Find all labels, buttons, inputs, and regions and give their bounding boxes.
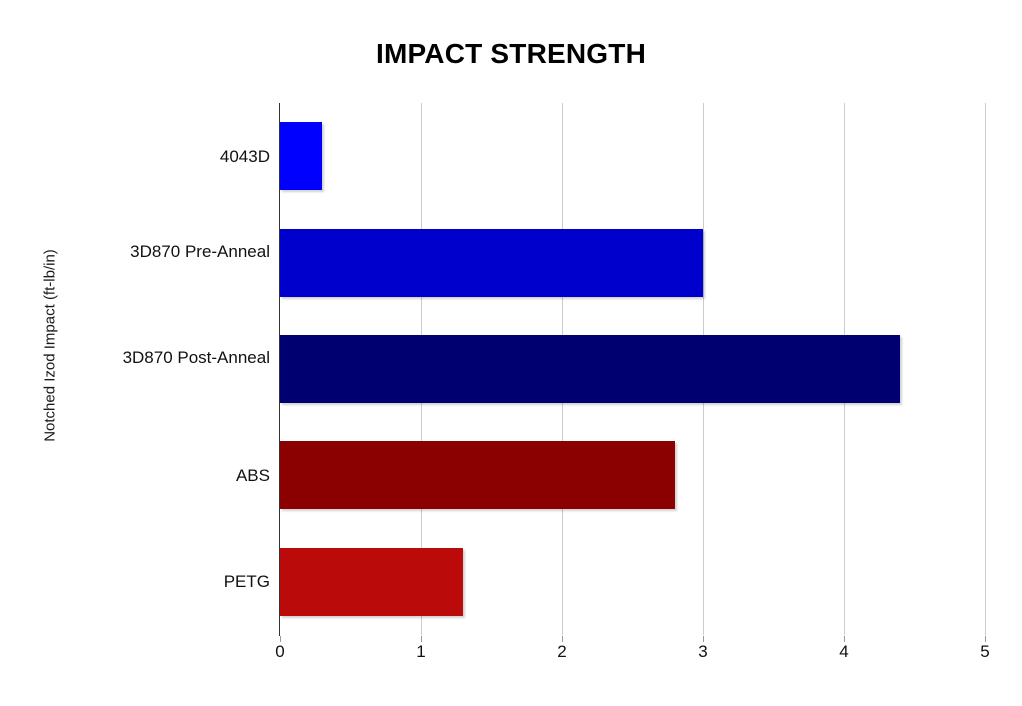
x-tick-label: 2: [532, 642, 592, 662]
y-axis-category-label: 3D870 Pre-Anneal: [40, 240, 270, 263]
x-tick-label: 4: [814, 642, 874, 662]
y-axis-category-label: ABS: [40, 464, 270, 487]
bar[interactable]: [280, 441, 675, 509]
y-axis-category-label: PETG: [40, 570, 270, 593]
gridline: [985, 103, 986, 635]
bar[interactable]: [280, 229, 703, 297]
x-tick-label: 0: [250, 642, 310, 662]
chart-container: IMPACT STRENGTH Notched Izod Impact (ft-…: [0, 0, 1022, 706]
bar[interactable]: [280, 335, 900, 403]
chart-title: IMPACT STRENGTH: [0, 38, 1022, 70]
y-axis-category-label: 3D870 Post-Anneal: [40, 346, 270, 369]
bar[interactable]: [280, 122, 322, 190]
bar[interactable]: [280, 548, 463, 616]
x-tick-label: 1: [391, 642, 451, 662]
x-tick-label: 3: [673, 642, 733, 662]
y-axis-category-label: 4043D: [40, 145, 270, 168]
x-tick-label: 5: [955, 642, 1015, 662]
